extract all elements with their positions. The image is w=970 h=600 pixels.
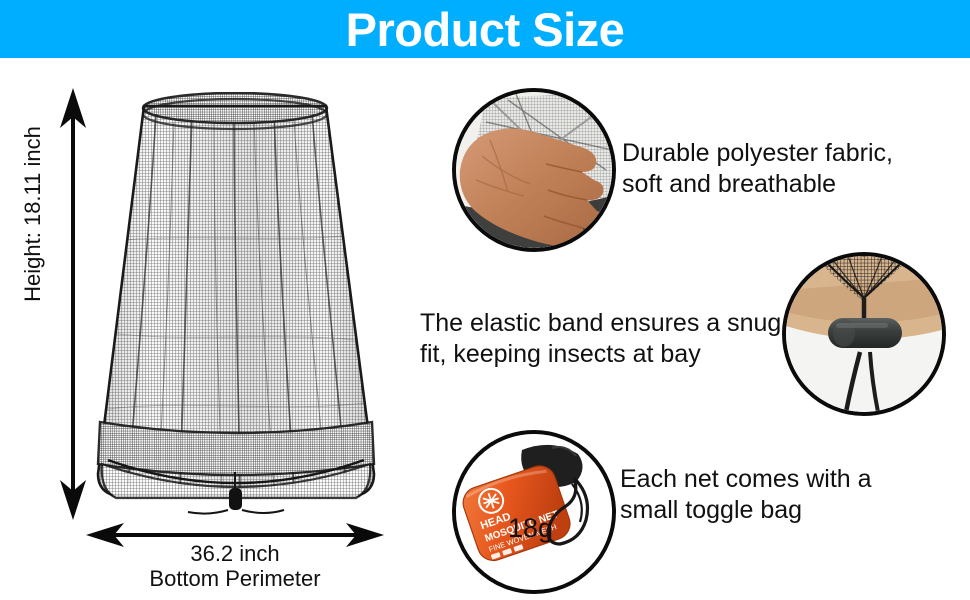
header-banner: Product Size [0, 0, 970, 58]
feature-photo-bag: HEAD MOSQUITO NET FINE WOVEN MESH [452, 430, 616, 594]
page-title: Product Size [0, 0, 970, 58]
caption-line-1: The elastic band ensures a snug [420, 308, 786, 339]
bag-weight-label: 18g [508, 515, 553, 542]
perimeter-value: 36.2 inch [84, 542, 386, 567]
caption-line-1: Durable polyester fabric, [622, 138, 966, 169]
feature-photo-fabric [452, 88, 616, 252]
caption-line-1: Each net comes with a [620, 464, 960, 495]
product-photo-head-net [88, 92, 384, 520]
caption-line-2: soft and breathable [622, 169, 966, 200]
feature-caption-elastic: The elastic band ensures a snug fit, kee… [420, 308, 786, 369]
hand-holding-mesh-icon [456, 92, 612, 248]
height-label: Height: 18.11 inch [19, 119, 47, 309]
caption-line-2: small toggle bag [620, 495, 960, 526]
perimeter-caption: Bottom Perimeter [84, 567, 386, 592]
caption-line-2: fit, keeping insects at bay [420, 339, 786, 370]
feature-caption-bag: Each net comes with a small toggle bag [620, 464, 960, 525]
cord-toggle-closeup-icon [786, 256, 942, 412]
vertical-double-arrow-icon [56, 86, 90, 522]
toggle-clip [229, 488, 242, 510]
infographic-canvas: Product Size [0, 0, 970, 600]
net-crown [143, 93, 327, 129]
feature-caption-fabric: Durable polyester fabric, soft and breat… [622, 138, 966, 199]
orange-toggle-bag-icon: HEAD MOSQUITO NET FINE WOVEN MESH [456, 434, 612, 590]
height-dimension-arrow [56, 86, 90, 522]
bottom-perimeter-label: 36.2 inch Bottom Perimeter [84, 542, 386, 591]
head-net-illustration [88, 92, 384, 520]
feature-photo-toggle [782, 252, 946, 416]
